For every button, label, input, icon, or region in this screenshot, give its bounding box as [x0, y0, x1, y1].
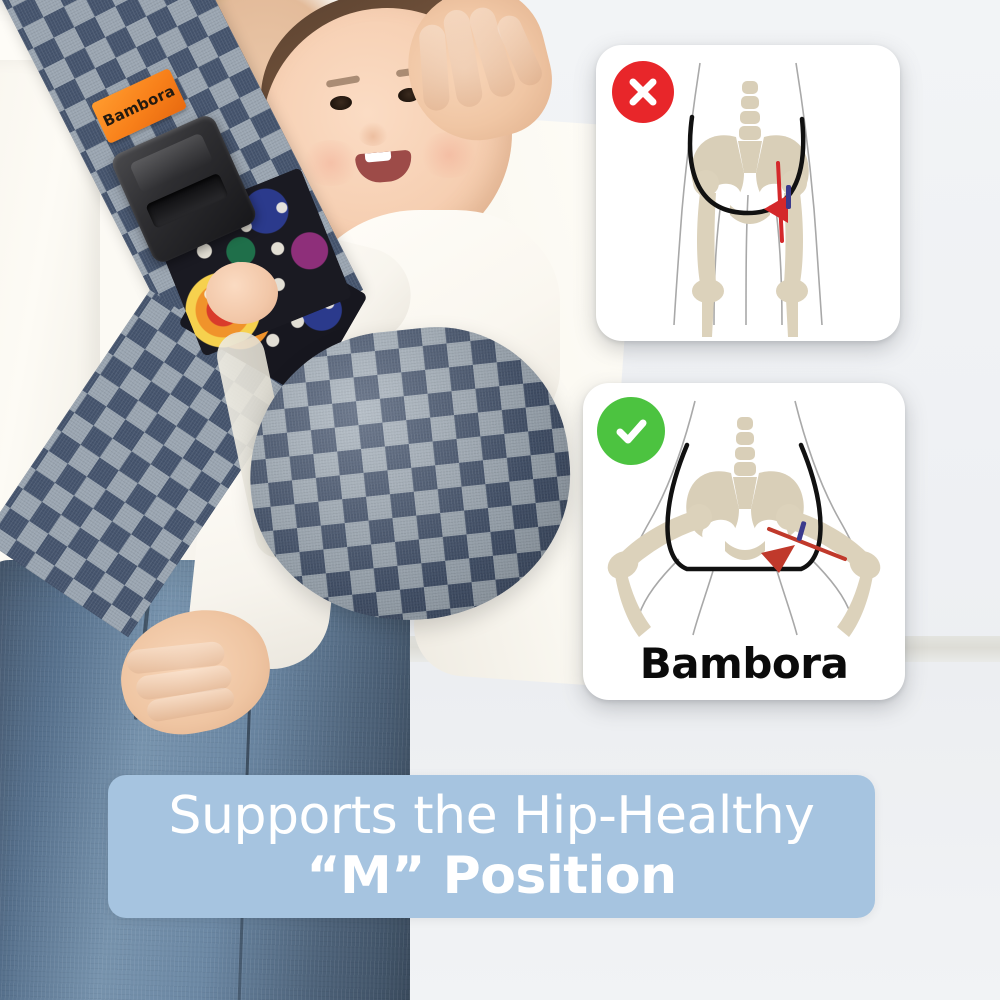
baby-hand: [206, 262, 278, 324]
carrier-pouch: [236, 314, 585, 636]
headline-line-2: “M” Position: [306, 850, 676, 903]
baby-teeth: [365, 151, 392, 162]
baby-cheek-left: [300, 140, 362, 186]
green-check-icon: [597, 397, 665, 465]
product-marketing-image: Bambora: [0, 0, 1000, 1000]
x-glyph: [625, 74, 661, 110]
headline-banner: Supports the Hip-Healthy “M” Position: [108, 775, 875, 918]
info-card-incorrect-position: [596, 45, 900, 341]
baby-nose: [358, 122, 388, 146]
headline-line-1: Supports the Hip-Healthy: [169, 790, 815, 843]
info-card-correct-position: Bambora: [583, 383, 905, 700]
card-brand-caption: Bambora: [583, 639, 905, 688]
red-x-icon: [612, 61, 674, 123]
pouch-shading: [236, 314, 585, 636]
checkmark-glyph: [611, 411, 651, 451]
